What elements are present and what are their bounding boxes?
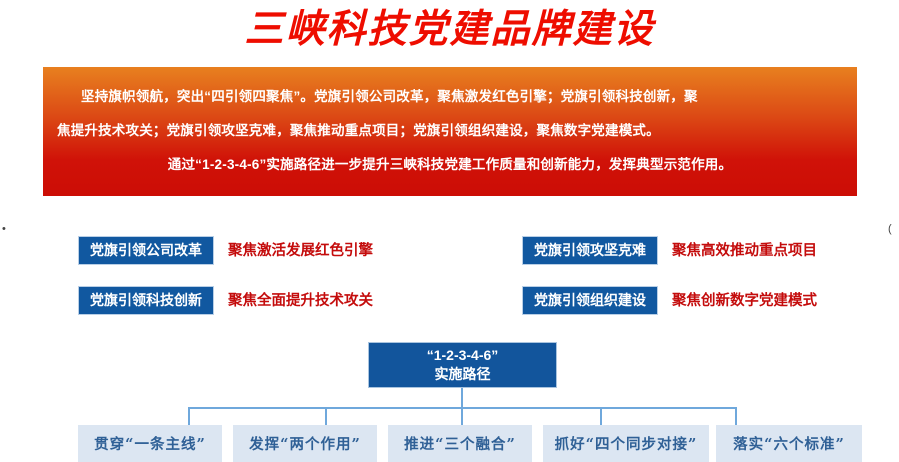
slide-edge-mark-left: • bbox=[2, 224, 6, 235]
initiative-pair: 党旗引领组织建设 聚焦创新数字党建模式 bbox=[522, 286, 817, 315]
connector-branch bbox=[188, 409, 190, 425]
initiative-focus: 聚焦全面提升技术攻关 bbox=[228, 292, 373, 310]
initiative-pair: 党旗引领攻坚克难 聚焦高效推动重点项目 bbox=[522, 236, 817, 265]
summary-banner: 坚持旗帜领航，突出“四引领四聚焦”。党旗引领公司改革，聚焦激发红色引擎；党旗引领… bbox=[43, 67, 857, 196]
initiative-pair: 党旗引领公司改革 聚焦激活发展红色引擎 bbox=[78, 236, 373, 265]
initiative-focus: 聚焦高效推动重点项目 bbox=[672, 242, 817, 260]
slide-canvas: 三峡科技党建品牌建设 坚持旗帜领航，突出“四引领四聚焦”。党旗引领公司改革，聚焦… bbox=[0, 0, 899, 462]
connector-trunk bbox=[461, 388, 463, 408]
leaf-box[interactable]: 抓好“四个同步对接” bbox=[543, 425, 709, 462]
initiative-pair: 党旗引领科技创新 聚焦全面提升技术攻关 bbox=[78, 286, 373, 315]
banner-line-2: 焦提升技术攻关；党旗引领攻坚克难，聚焦推动重点项目；党旗引领组织建设，聚焦数字党… bbox=[57, 121, 843, 141]
connector-branch bbox=[735, 409, 737, 425]
page-title: 三峡科技党建品牌建设 bbox=[0, 4, 899, 56]
initiative-tag[interactable]: 党旗引领攻坚克难 bbox=[522, 236, 658, 265]
slide-edge-mark-right: ( bbox=[888, 224, 892, 235]
path-name-label: 实施路径 bbox=[435, 365, 491, 384]
initiative-tag[interactable]: 党旗引领科技创新 bbox=[78, 286, 214, 315]
connector-branch bbox=[600, 409, 602, 425]
leaf-box[interactable]: 推进“三个融合” bbox=[388, 425, 532, 462]
initiative-focus: 聚焦激活发展红色引擎 bbox=[228, 242, 373, 260]
leaf-box[interactable]: 发挥“两个作用” bbox=[233, 425, 377, 462]
banner-line-1: 坚持旗帜领航，突出“四引领四聚焦”。党旗引领公司改革，聚焦激发红色引擎；党旗引领… bbox=[81, 87, 843, 107]
connector-branch bbox=[325, 409, 327, 425]
connector-branch bbox=[461, 409, 463, 425]
path-code-label: “1-2-3-4-6” bbox=[427, 346, 499, 365]
banner-line-3: 通过“1-2-3-4-6”实施路径进一步提升三峡科技党建工作质量和创新能力，发挥… bbox=[57, 155, 843, 175]
initiative-tag[interactable]: 党旗引领组织建设 bbox=[522, 286, 658, 315]
initiative-focus: 聚焦创新数字党建模式 bbox=[672, 292, 817, 310]
leaf-box[interactable]: 贯穿“一条主线” bbox=[78, 425, 222, 462]
leaf-box[interactable]: 落实“六个标准” bbox=[716, 425, 862, 462]
initiative-tag[interactable]: 党旗引领公司改革 bbox=[78, 236, 214, 265]
implementation-path-node[interactable]: “1-2-3-4-6” 实施路径 bbox=[368, 342, 557, 388]
